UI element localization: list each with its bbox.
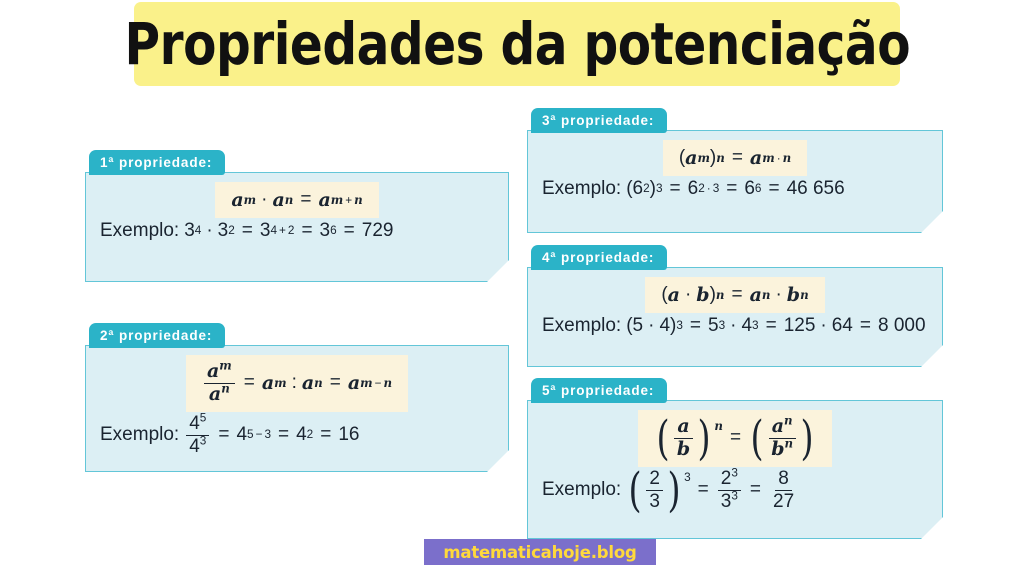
left-paren-icon: ( bbox=[656, 417, 669, 460]
property-4-body: (a·b)n=an·bn Exemplo: (5·4)3=53·43=125·6… bbox=[527, 267, 943, 367]
paren-group-23: (23)3 bbox=[626, 469, 690, 512]
property-2-formula-row: aman=am:an=am−n bbox=[100, 355, 494, 412]
property-2-formula: aman=am:an=am−n bbox=[202, 362, 392, 405]
property-card-3: 3ª propriedade: (am)n=am·n Exemplo: (62)… bbox=[527, 108, 943, 233]
right-paren-icon: ) bbox=[801, 417, 814, 460]
example-label-3: Exemplo: bbox=[542, 178, 621, 200]
property-3-formula-box: (am)n=am·n bbox=[663, 140, 807, 176]
property-2-example: Exemplo: 4543=45−3=42=16 bbox=[100, 414, 494, 457]
example-label-5: Exemplo: bbox=[542, 479, 621, 501]
property-5-example: Exemplo: (23)3=2333=827 bbox=[542, 469, 928, 512]
fraction-8-27: 827 bbox=[770, 469, 797, 512]
property-card-2: 2ª propriedade: aman=am:an=am−n Exemplo:… bbox=[85, 323, 509, 472]
property-4-formula-row: (a·b)n=an·bn bbox=[542, 277, 928, 313]
property-1-tab: 1ª propriedade: bbox=[89, 150, 225, 175]
property-1-example-math: 34·32=34+2=36=729 bbox=[184, 220, 393, 242]
property-card-1: 1ª propriedade: am·an=am+n Exemplo: 34·3… bbox=[85, 150, 509, 282]
property-3-tab: 3ª propriedade: bbox=[531, 108, 667, 133]
property-4-formula: (a·b)n=an·bn bbox=[661, 284, 808, 306]
property-3-example: Exemplo: (62)3=62·3=66=46 656 bbox=[542, 178, 928, 200]
property-2-tab: 2ª propriedade: bbox=[89, 323, 225, 348]
property-card-4: 4ª propriedade: (a·b)n=an·bn Exemplo: (5… bbox=[527, 245, 943, 367]
right-paren-icon: ) bbox=[698, 417, 711, 460]
property-1-formula-row: am·an=am+n bbox=[100, 182, 494, 218]
footer-badge: matematicahoje.blog bbox=[424, 539, 656, 565]
example-label-1: Exemplo: bbox=[100, 220, 179, 242]
property-4-tab: 4ª propriedade: bbox=[531, 245, 667, 270]
property-2-example-math: 4543=45−3=42=16 bbox=[184, 414, 359, 457]
example-label-2: Exemplo: bbox=[100, 424, 179, 446]
property-3-example-math: (62)3=62·3=66=46 656 bbox=[626, 178, 845, 200]
property-2-body: aman=am:an=am−n Exemplo: 4543=45−3=42=16 bbox=[85, 345, 509, 472]
fraction-23-33: 2333 bbox=[718, 469, 741, 512]
property-5-tab: 5ª propriedade: bbox=[531, 378, 667, 403]
paren-group-ab: (ab)n bbox=[654, 417, 723, 460]
property-1-formula-box: am·an=am+n bbox=[215, 182, 378, 218]
property-5-example-math: (23)3=2333=827 bbox=[626, 469, 799, 512]
property-3-formula: (am)n=am·n bbox=[679, 147, 791, 169]
property-1-body: am·an=am+n Exemplo: 34·32=34+2=36=729 bbox=[85, 172, 509, 282]
paren-group-anbn: (anbn) bbox=[748, 417, 816, 460]
property-5-formula-row: (ab)n=(anbn) bbox=[542, 410, 928, 467]
property-5-body: (ab)n=(anbn) Exemplo: (23)3=2333=827 bbox=[527, 400, 943, 539]
right-paren-icon: ) bbox=[667, 469, 680, 512]
left-paren-icon: ( bbox=[751, 417, 764, 460]
left-paren-icon: ( bbox=[629, 469, 642, 512]
property-4-example: Exemplo: (5·4)3=53·43=125·64=8 000 bbox=[542, 315, 928, 337]
page-title: Propriedades da potenciação bbox=[124, 15, 910, 73]
property-3-body: (am)n=am·n Exemplo: (62)3=62·3=66=46 656 bbox=[527, 130, 943, 233]
property-card-5: 5ª propriedade: (ab)n=(anbn) Exemplo: (2… bbox=[527, 378, 943, 539]
property-5-formula: (ab)n=(anbn) bbox=[654, 417, 817, 460]
property-2-formula-box: aman=am:an=am−n bbox=[186, 355, 408, 412]
property-1-formula: am·an=am+n bbox=[231, 189, 362, 211]
fraction-45-43: 4543 bbox=[186, 414, 209, 457]
property-4-formula-box: (a·b)n=an·bn bbox=[645, 277, 824, 313]
property-1-example: Exemplo: 34·32=34+2=36=729 bbox=[100, 220, 494, 242]
site-url: matematicahoje.blog bbox=[443, 543, 636, 562]
title-banner: Propriedades da potenciação bbox=[134, 2, 900, 86]
property-3-formula-row: (am)n=am·n bbox=[542, 140, 928, 176]
example-label-4: Exemplo: bbox=[542, 315, 621, 337]
fraction-am-an: aman bbox=[204, 362, 235, 405]
property-4-example-math: (5·4)3=53·43=125·64=8 000 bbox=[626, 315, 925, 337]
property-5-formula-box: (ab)n=(anbn) bbox=[638, 410, 833, 467]
